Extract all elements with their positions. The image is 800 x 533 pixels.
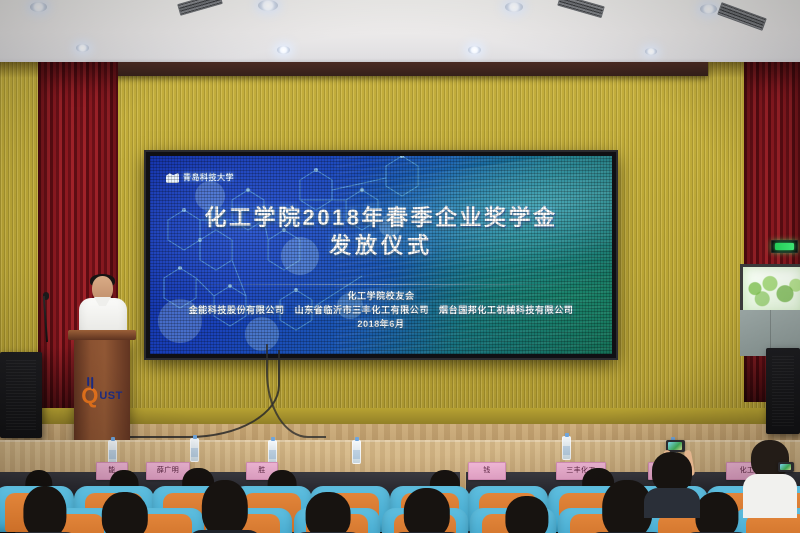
qust-logo: Q UST bbox=[81, 386, 123, 406]
photographer-head bbox=[652, 452, 692, 492]
audience-person-foreground bbox=[196, 480, 254, 533]
window-foliage bbox=[743, 275, 800, 309]
slide-title: 化工学院2018年春季企业奖学金 发放仪式 bbox=[150, 204, 612, 260]
audience-photographer bbox=[640, 438, 720, 508]
audience-photographer-secondary bbox=[744, 436, 800, 510]
slide-sponsor-list: 金能科技股份有限公司山东省临沂市三丰化工有限公司烟台国邦化工机械科技有限公司 bbox=[150, 303, 612, 317]
screen-header-beam bbox=[88, 62, 708, 76]
water-bottle bbox=[108, 440, 117, 464]
emergency-exit-icon bbox=[771, 240, 798, 253]
ceiling-downlight-icon bbox=[30, 2, 47, 12]
slide-title-line1: 化工学院2018年春季企业奖学金 bbox=[205, 205, 558, 230]
university-emblem-icon bbox=[166, 172, 179, 183]
university-logo: 青岛科技大学 bbox=[166, 172, 234, 183]
water-bottle bbox=[190, 438, 199, 462]
ceiling-downlight-icon bbox=[468, 46, 481, 54]
qust-logo-ust: UST bbox=[99, 389, 123, 404]
slide-date: 2018年6月 bbox=[150, 317, 612, 331]
water-bottle bbox=[268, 440, 277, 464]
led-display-frame: 青岛科技大学 化工学院2018年春季企业奖学金 发放仪式 化工学院校友会 金能科… bbox=[146, 152, 616, 358]
ceiling-downlight-icon bbox=[76, 44, 89, 52]
name-placard: 钱 bbox=[468, 462, 506, 480]
pa-speaker-right bbox=[766, 348, 800, 434]
slide-subtitle-alumni: 化工学院校友会 bbox=[150, 289, 612, 303]
exit-sign-glow bbox=[775, 243, 794, 250]
photographer-body bbox=[644, 488, 700, 518]
audience-person-foreground bbox=[398, 488, 456, 533]
slide-sponsor-name: 山东省临沂市三丰化工有限公司 bbox=[295, 305, 429, 315]
water-bottle bbox=[352, 440, 361, 464]
led-display-screen: 青岛科技大学 化工学院2018年春季企业奖学金 发放仪式 化工学院校友会 金能科… bbox=[150, 156, 612, 354]
audience-person-head bbox=[102, 492, 148, 533]
ceiling-downlight-icon bbox=[505, 2, 523, 12]
audience-person-head bbox=[23, 486, 66, 533]
ceiling-downlight-icon bbox=[700, 4, 717, 14]
slide-divider-rule bbox=[196, 284, 566, 285]
audience-person-head bbox=[306, 492, 351, 533]
camera-screen bbox=[668, 442, 682, 450]
university-logo-text: 青岛科技大学 bbox=[183, 172, 234, 183]
ceiling-downlight-icon bbox=[645, 48, 657, 55]
conference-photo: 青岛科技大学 化工学院2018年春季企业奖学金 发放仪式 化工学院校友会 金能科… bbox=[0, 0, 800, 533]
phone-icon bbox=[778, 462, 794, 472]
ceiling-downlight-icon bbox=[258, 0, 278, 11]
qust-bars-icon bbox=[87, 377, 93, 389]
slide-title-line2: 发放仪式 bbox=[150, 232, 612, 260]
water-bottle bbox=[562, 436, 571, 460]
audience-person-head bbox=[202, 480, 248, 533]
audience-person-head bbox=[404, 488, 450, 533]
slide-sponsor-name: 烟台国邦化工机械科技有限公司 bbox=[439, 305, 573, 315]
photographer2-body bbox=[743, 474, 797, 518]
audience-person-foreground bbox=[18, 486, 72, 533]
photographer2-head bbox=[751, 440, 789, 478]
audience-person-foreground bbox=[300, 492, 356, 533]
slide-subtitle-block: 化工学院校友会 金能科技股份有限公司山东省临沂市三丰化工有限公司烟台国邦化工机械… bbox=[150, 289, 612, 331]
audience-person-foreground bbox=[96, 492, 154, 533]
qust-logo-q: Q bbox=[81, 386, 98, 406]
audience-person-head bbox=[505, 496, 548, 533]
ceiling-downlight-icon bbox=[277, 46, 290, 54]
slide-sponsor-name: 金能科技股份有限公司 bbox=[189, 305, 285, 315]
podium-top bbox=[68, 330, 136, 340]
phone-screen bbox=[780, 464, 791, 470]
audience-person-foreground bbox=[500, 496, 554, 533]
pa-speaker-left bbox=[0, 352, 42, 438]
